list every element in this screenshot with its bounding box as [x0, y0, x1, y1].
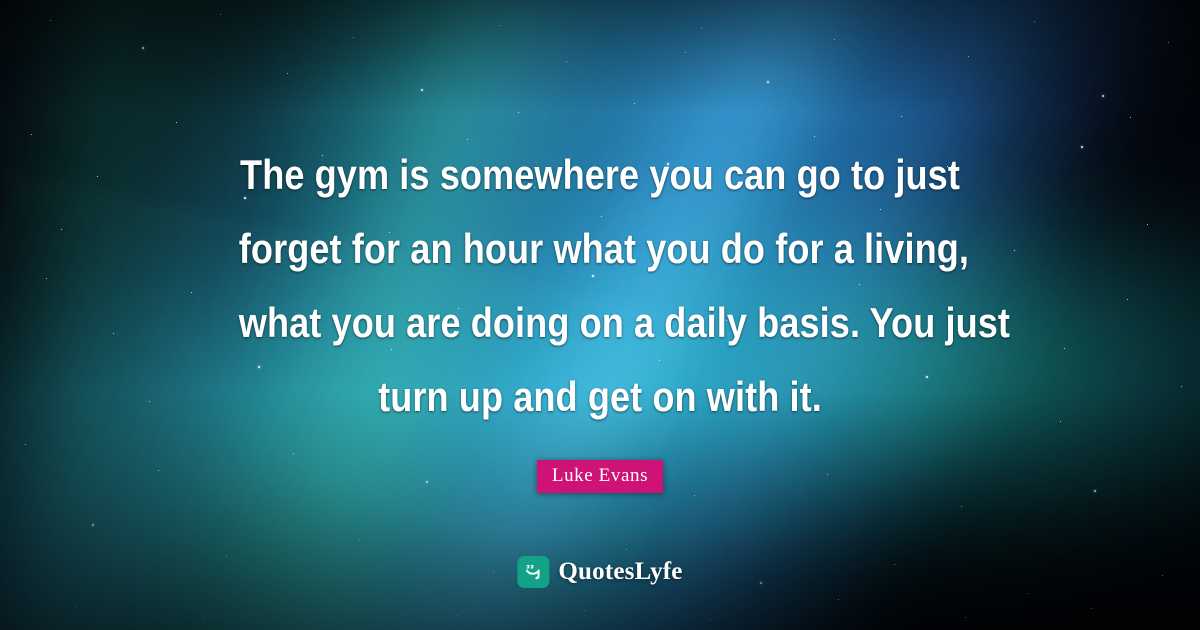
quote-line: The gym is somewhere you can go to just — [239, 138, 961, 212]
brand-name: QuotesLyfe — [558, 558, 682, 586]
quote-card: The gym is somewhere you can go to just … — [0, 0, 1200, 630]
quote-text-block: The gym is somewhere you can go to just … — [180, 138, 1020, 493]
quote-marks-icon — [517, 556, 549, 588]
author-badge-wrap: Luke Evans — [180, 434, 1020, 493]
card-content: The gym is somewhere you can go to just … — [0, 0, 1200, 630]
author-badge[interactable]: Luke Evans — [537, 460, 663, 493]
quote-line: what you are doing on a daily basis. You… — [239, 286, 961, 360]
quote-line: turn up and get on with it. — [239, 360, 961, 434]
quote-line: forget for an hour what you do for a liv… — [239, 212, 961, 286]
brand-logo[interactable]: QuotesLyfe — [517, 556, 682, 588]
